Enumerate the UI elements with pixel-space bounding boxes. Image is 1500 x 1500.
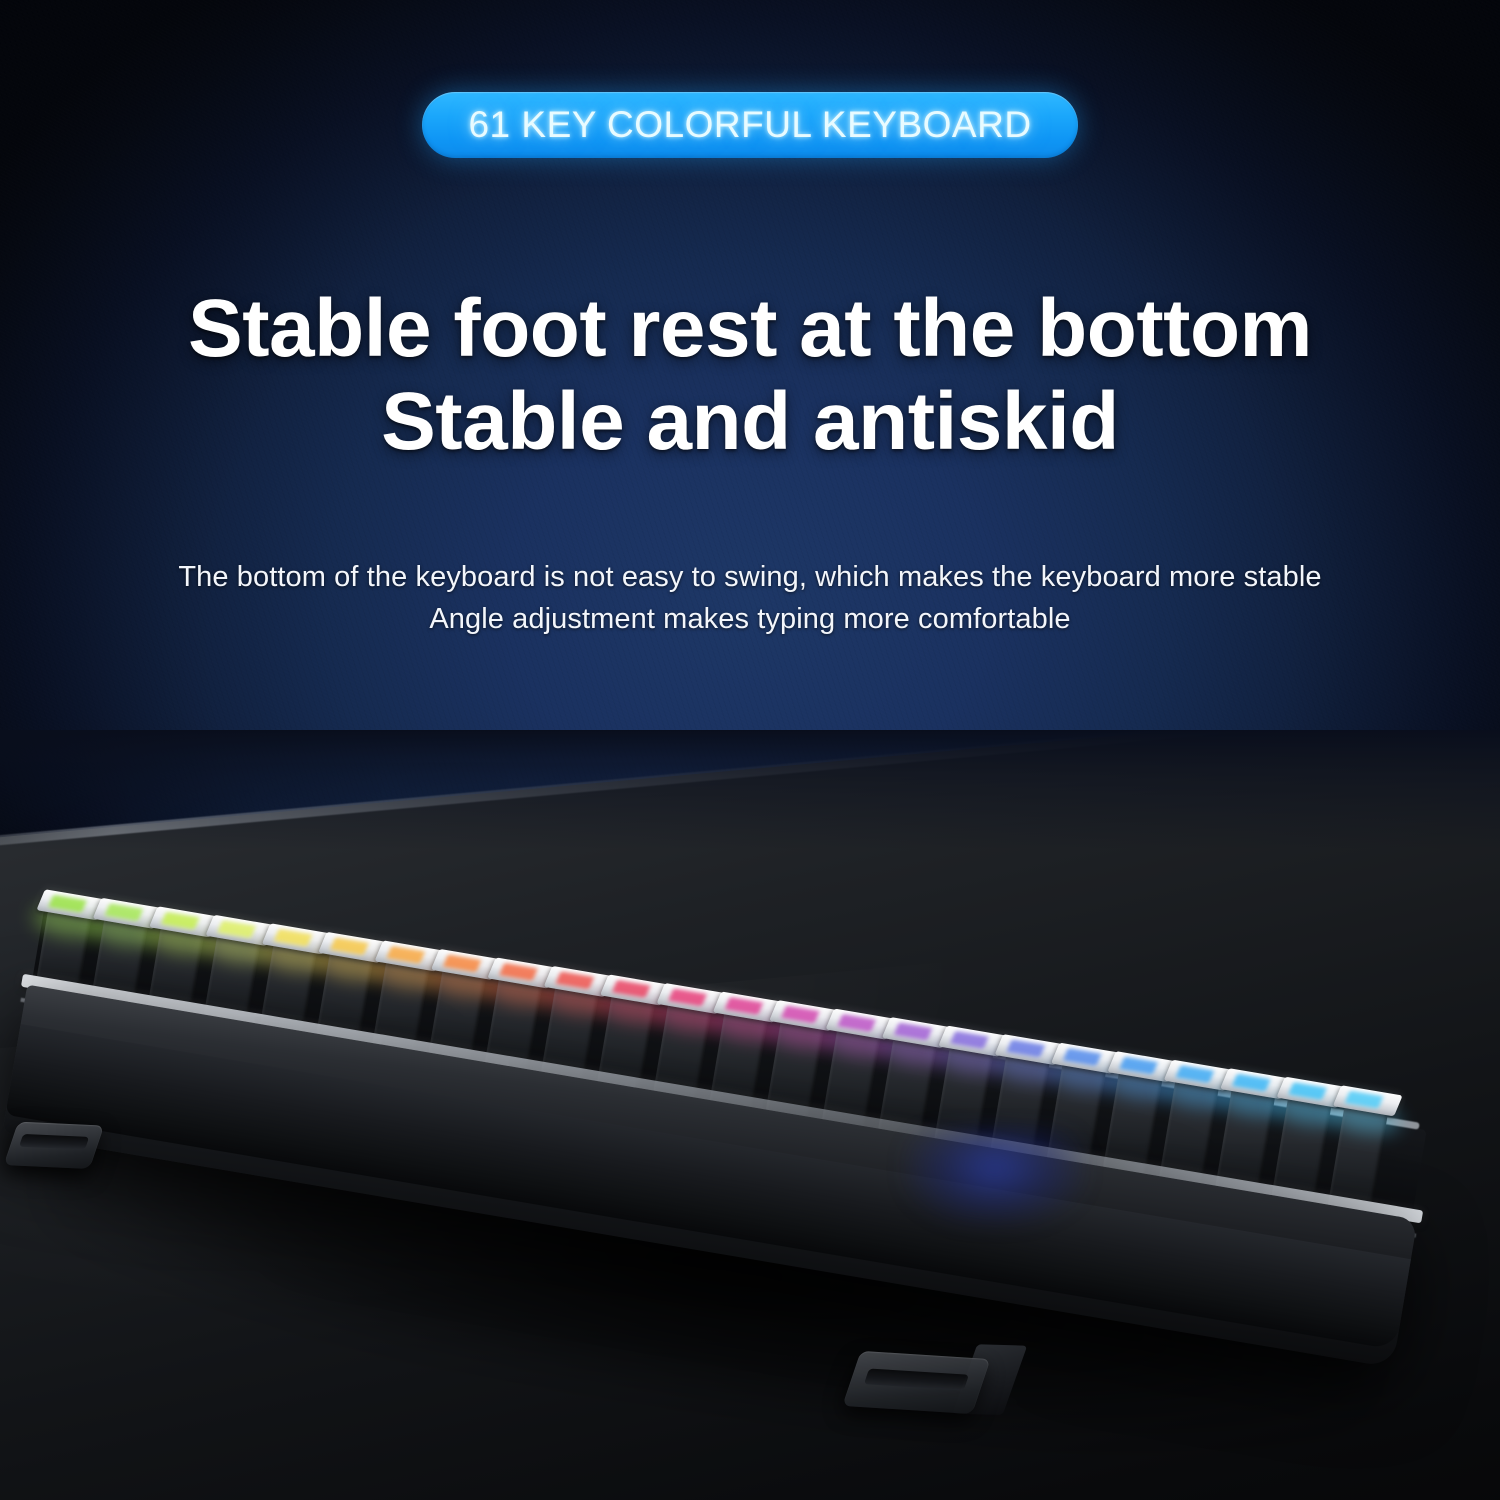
- keycap-legend: [1288, 1082, 1327, 1100]
- badge-label: 61 KEY COLORFUL KEYBOARD: [468, 104, 1031, 146]
- keycap-legend: [499, 963, 538, 981]
- keycap-legend: [443, 954, 482, 972]
- page-subtitle: The bottom of the keyboard is not easy t…: [0, 556, 1500, 640]
- keycap-legend: [1063, 1048, 1102, 1066]
- keyboard-foot-right: [842, 1351, 990, 1414]
- product-photo: [0, 730, 1500, 1500]
- headline-line-1: Stable foot rest at the bottom: [0, 282, 1500, 375]
- keycap-legend: [48, 895, 87, 913]
- keyboard-foot-left: [4, 1122, 105, 1169]
- keycap-legend: [1232, 1074, 1271, 1092]
- keycap-legend: [1119, 1057, 1158, 1075]
- subtitle-line-1: The bottom of the keyboard is not easy t…: [0, 556, 1500, 598]
- product-badge: 61 KEY COLORFUL KEYBOARD: [422, 92, 1077, 158]
- keycap-legend: [1176, 1065, 1215, 1083]
- keycap-legend: [668, 988, 707, 1006]
- keycap-legend: [1006, 1040, 1045, 1058]
- keycap-legend: [612, 980, 651, 998]
- page-title: Stable foot rest at the bottom Stable an…: [0, 282, 1500, 469]
- keycap-legend: [725, 997, 764, 1015]
- foot-slot-left: [19, 1134, 89, 1150]
- keycap-legend: [950, 1031, 989, 1049]
- keycap-legend: [894, 1022, 933, 1040]
- keycap-legend: [330, 937, 369, 955]
- keycap-legend: [217, 920, 256, 938]
- keycap: [1333, 1085, 1403, 1116]
- keycap-legend: [386, 946, 425, 964]
- subtitle-line-2: Angle adjustment makes typing more comfo…: [0, 598, 1500, 640]
- foot-slot-right: [864, 1368, 969, 1390]
- keycap-legend: [1345, 1091, 1384, 1109]
- keycap-legend: [105, 903, 144, 921]
- keycap-legend: [556, 971, 595, 989]
- headline-line-2: Stable and antiskid: [0, 375, 1500, 468]
- keycap-legend: [781, 1005, 820, 1023]
- keycap-legend: [274, 929, 313, 947]
- keycap-legend: [161, 912, 200, 930]
- badge-container: 61 KEY COLORFUL KEYBOARD: [0, 92, 1500, 158]
- keycap-legend: [837, 1014, 876, 1032]
- product-banner: 61 KEY COLORFUL KEYBOARD Stable foot res…: [0, 0, 1500, 1500]
